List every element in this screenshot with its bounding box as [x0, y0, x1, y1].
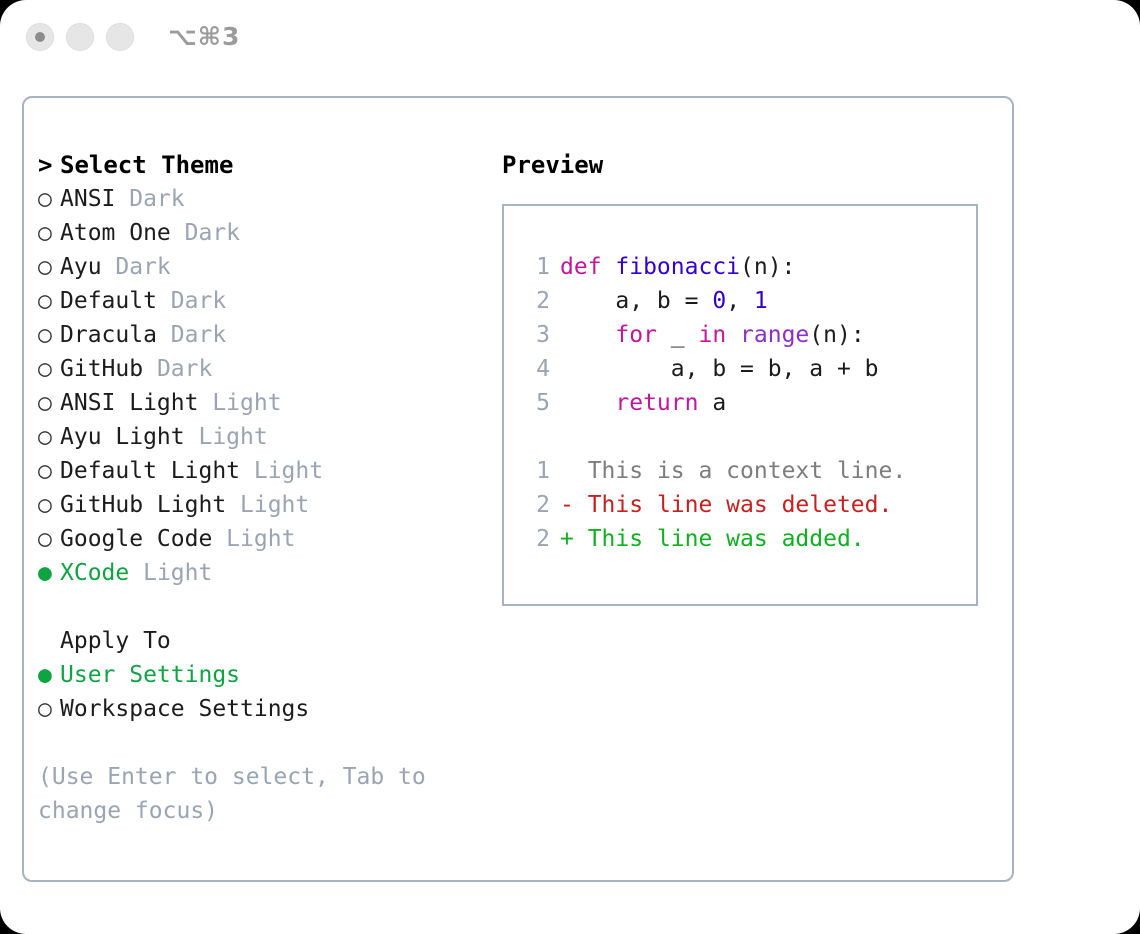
theme-option-google-code[interactable]: ○Google Code Light [38, 522, 478, 556]
apply-to-header: Apply To [38, 624, 478, 658]
code-token: def [560, 254, 615, 280]
radio-unselected-icon: ○ [38, 284, 60, 318]
theme-variant-badge: Light [240, 458, 323, 484]
line-number: 1 [522, 250, 550, 284]
select-theme-header-label: Select Theme [60, 151, 233, 179]
theme-variant-badge: Dark [115, 186, 184, 212]
theme-options-list: ○ANSI Dark○Atom One Dark○Ayu Dark○Defaul… [38, 182, 478, 590]
diff-marker: - [560, 492, 574, 518]
theme-option-ansi[interactable]: ○ANSI Dark [38, 182, 478, 216]
line-number: 2 [522, 522, 550, 556]
theme-list-column: >Select Theme ○ANSI Dark○Atom One Dark○A… [38, 148, 478, 828]
code-token: a, b = [560, 288, 712, 314]
radio-unselected-icon: ○ [38, 454, 60, 488]
radio-unselected-icon: ○ [38, 386, 60, 420]
theme-variant-badge: Light [129, 560, 212, 586]
code-preview: 1def fibonacci(n):2 a, b = 0, 13 for _ i… [522, 250, 906, 556]
theme-variant-badge: Dark [102, 254, 171, 280]
code-token: range [740, 322, 809, 348]
radio-unselected-icon: ○ [38, 488, 60, 522]
theme-option-label: Default Light [60, 458, 240, 484]
theme-variant-badge: Light [185, 424, 268, 450]
theme-variant-badge: Dark [143, 356, 212, 382]
code-token: fibonacci [615, 254, 740, 280]
code-token: 0 [712, 288, 726, 314]
radio-unselected-icon: ○ [38, 420, 60, 454]
code-token: 1 [754, 288, 768, 314]
code-line: 4 a, b = b, a + b [522, 352, 906, 386]
code-token: a [698, 390, 726, 416]
theme-variant-badge: Light [212, 526, 295, 552]
window-minimize-button[interactable] [66, 23, 94, 51]
theme-variant-badge: Dark [157, 288, 226, 314]
radio-unselected-icon: ○ [38, 318, 60, 352]
code-token: for [615, 322, 657, 348]
code-token [560, 322, 615, 348]
window-close-button[interactable] [26, 23, 54, 51]
theme-option-ayu-light[interactable]: ○Ayu Light Light [38, 420, 478, 454]
apply-to-option-user-settings[interactable]: ●User Settings [38, 658, 478, 692]
line-number: 4 [522, 352, 550, 386]
theme-option-label: XCode [60, 560, 129, 586]
preview-box: 1def fibonacci(n):2 a, b = 0, 13 for _ i… [502, 204, 978, 606]
apply-to-option-label: Workspace Settings [60, 696, 309, 722]
theme-option-label: Ayu Light [60, 424, 185, 450]
theme-option-label: ANSI Light [60, 390, 198, 416]
theme-option-ayu[interactable]: ○Ayu Dark [38, 250, 478, 284]
keyboard-hint-text: (Use Enter to select, Tab to change focu… [38, 760, 438, 828]
diff-line-del: 2- This line was deleted. [522, 488, 906, 522]
diff-text: This line was added. [574, 526, 865, 552]
theme-option-atom-one[interactable]: ○Atom One Dark [38, 216, 478, 250]
theme-variant-badge: Light [226, 492, 309, 518]
diff-text: This line was deleted. [574, 492, 893, 518]
theme-option-github[interactable]: ○GitHub Dark [38, 352, 478, 386]
title-bar: ⌥⌘3 [0, 0, 1140, 80]
line-number: 2 [522, 284, 550, 318]
theme-option-label: Default [60, 288, 157, 314]
theme-option-ansi-light[interactable]: ○ANSI Light Light [38, 386, 478, 420]
theme-picker-panel: >Select Theme ○ANSI Dark○Atom One Dark○A… [22, 96, 1014, 882]
apply-to-options-list: ●User Settings○Workspace Settings [38, 658, 478, 726]
theme-option-label: Atom One [60, 220, 171, 246]
app-window: ⌥⌘3 >Select Theme ○ANSI Dark○Atom One Da… [0, 0, 1140, 934]
diff-text: This is a context line. [574, 458, 906, 484]
theme-option-default[interactable]: ○Default Dark [38, 284, 478, 318]
diff-marker: + [560, 526, 574, 552]
preview-title: Preview [502, 148, 1002, 182]
theme-option-dracula[interactable]: ○Dracula Dark [38, 318, 478, 352]
diff-marker [560, 458, 574, 484]
diff-line-ctx: 1 This is a context line. [522, 454, 906, 488]
diff-line-add: 2+ This line was added. [522, 522, 906, 556]
code-diff-separator [522, 420, 906, 454]
radio-selected-icon: ● [38, 658, 60, 692]
theme-variant-badge: Light [198, 390, 281, 416]
preview-column: Preview 1def fibonacci(n):2 a, b = 0, 13… [502, 148, 1002, 606]
apply-to-option-label: User Settings [60, 662, 240, 688]
line-number: 5 [522, 386, 550, 420]
theme-option-label: Ayu [60, 254, 102, 280]
window-close-icon [35, 32, 45, 42]
code-line: 3 for _ in range(n): [522, 318, 906, 352]
theme-option-label: Dracula [60, 322, 157, 348]
code-token: return [615, 390, 698, 416]
radio-unselected-icon: ○ [38, 352, 60, 386]
apply-to-option-workspace-settings[interactable]: ○Workspace Settings [38, 692, 478, 726]
radio-selected-icon: ● [38, 556, 60, 590]
window-zoom-button[interactable] [106, 23, 134, 51]
radio-unselected-icon: ○ [38, 182, 60, 216]
code-token: , [726, 288, 754, 314]
line-number: 1 [522, 454, 550, 488]
code-token: _ [657, 322, 699, 348]
code-line: 2 a, b = 0, 1 [522, 284, 906, 318]
radio-unselected-icon: ○ [38, 522, 60, 556]
code-token: (n): [740, 254, 795, 280]
theme-option-github-light[interactable]: ○GitHub Light Light [38, 488, 478, 522]
radio-unselected-icon: ○ [38, 692, 60, 726]
theme-option-label: Google Code [60, 526, 212, 552]
code-token [726, 322, 740, 348]
code-token: a, b = b, a + b [560, 356, 879, 382]
theme-option-default-light[interactable]: ○Default Light Light [38, 454, 478, 488]
line-number: 3 [522, 318, 550, 352]
code-line: 5 return a [522, 386, 906, 420]
prompt-caret-icon: > [38, 148, 60, 182]
radio-unselected-icon: ○ [38, 216, 60, 250]
line-number: 2 [522, 488, 550, 522]
code-line: 1def fibonacci(n): [522, 250, 906, 284]
theme-variant-badge: Dark [171, 220, 240, 246]
code-token: (n): [809, 322, 864, 348]
theme-variant-badge: Dark [157, 322, 226, 348]
radio-unselected-icon: ○ [38, 250, 60, 284]
code-token [560, 390, 615, 416]
theme-option-label: ANSI [60, 186, 115, 212]
code-token: in [698, 322, 726, 348]
theme-option-xcode[interactable]: ●XCode Light [38, 556, 478, 590]
keyboard-shortcut-label: ⌥⌘3 [168, 22, 240, 51]
theme-option-label: GitHub Light [60, 492, 226, 518]
select-theme-header: >Select Theme [38, 148, 478, 182]
theme-option-label: GitHub [60, 356, 143, 382]
